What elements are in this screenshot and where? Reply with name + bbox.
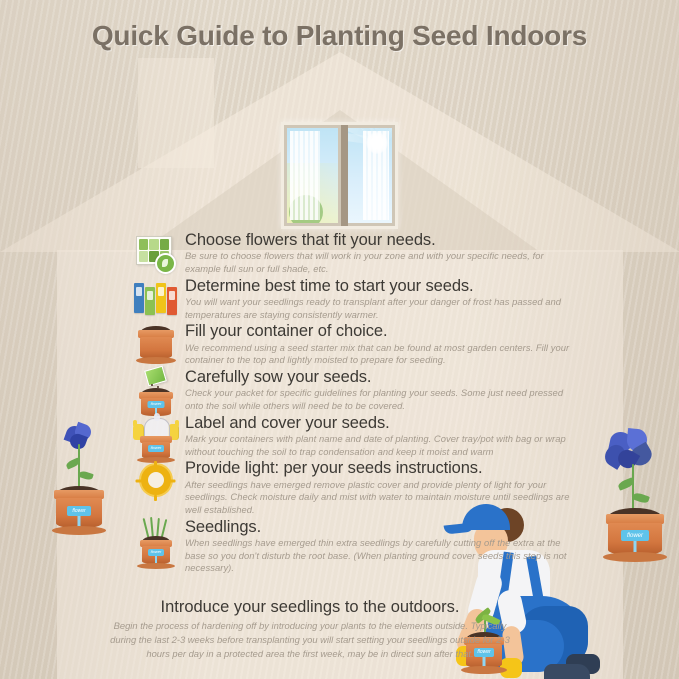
pot-label-tag: flower (148, 549, 164, 556)
window-curtain-right (363, 131, 389, 220)
step-item: flower Seedlings. When seedlings have em… (133, 518, 573, 575)
window-curtain-left (290, 131, 320, 220)
pot-label-tag: flower (148, 445, 164, 452)
step-body: You will want your seedlings ready to tr… (185, 296, 573, 321)
step-body: Be sure to choose flowers that will work… (185, 250, 573, 275)
sowing-seeds-icon: flower (133, 368, 179, 414)
step-item: Determine best time to start your seeds.… (133, 277, 573, 322)
window-illustration (281, 122, 398, 229)
window-pane-right (341, 128, 392, 223)
step-heading: Label and cover your seeds. (185, 414, 573, 432)
filled-pot-icon (133, 322, 179, 368)
footer-body: Begin the process of hardening off by in… (110, 619, 510, 660)
step-body: Mark your containers with plant name and… (185, 433, 573, 458)
footer-section: Introduce your seedlings to the outdoors… (110, 598, 510, 660)
step-item: Choose flowers that fit your needs. Be s… (133, 231, 573, 276)
pot-label-tag: flower (148, 401, 165, 408)
step-item: flower Label and cover your seeds. Mark … (133, 414, 573, 459)
infographic-page: Quick Guide to Planting Seed Indoors (0, 0, 679, 679)
step-heading: Seedlings. (185, 518, 573, 536)
step-item: flower Carefully sow your seeds. Check y… (133, 368, 573, 413)
left-flower-pot: flower (42, 420, 116, 538)
step-heading: Determine best time to start your seeds. (185, 277, 573, 295)
footer-heading: Introduce your seedlings to the outdoors… (110, 598, 510, 616)
step-heading: Carefully sow your seeds. (185, 368, 573, 386)
window-mullion (341, 125, 348, 226)
sprouting-seedlings-icon: flower (133, 518, 179, 568)
step-item: Fill your container of choice. We recomm… (133, 322, 573, 367)
step-body: Check your packet for specific guideline… (185, 387, 573, 412)
window-pane-left (287, 128, 338, 223)
step-body: When seedlings have emerged thin extra s… (185, 537, 573, 575)
page-title: Quick Guide to Planting Seed Indoors (0, 20, 679, 52)
step-heading: Fill your container of choice. (185, 322, 573, 340)
covered-pot-gloves-icon: flower (133, 414, 179, 460)
sun-light-icon (133, 459, 179, 505)
seed-catalog-icon (133, 231, 179, 277)
seed-packets-icon (133, 277, 179, 323)
step-body: After seedlings have emerged remove plas… (185, 479, 573, 517)
steps-list: Choose flowers that fit your needs. Be s… (133, 231, 573, 576)
step-item: Provide light: per your seeds instructio… (133, 459, 573, 516)
pot-label-tag: flower (67, 506, 91, 516)
step-heading: Provide light: per your seeds instructio… (185, 459, 573, 477)
step-heading: Choose flowers that fit your needs. (185, 231, 573, 249)
step-body: We recommend using a seed starter mix th… (185, 342, 573, 367)
gardener-boot (544, 664, 590, 679)
